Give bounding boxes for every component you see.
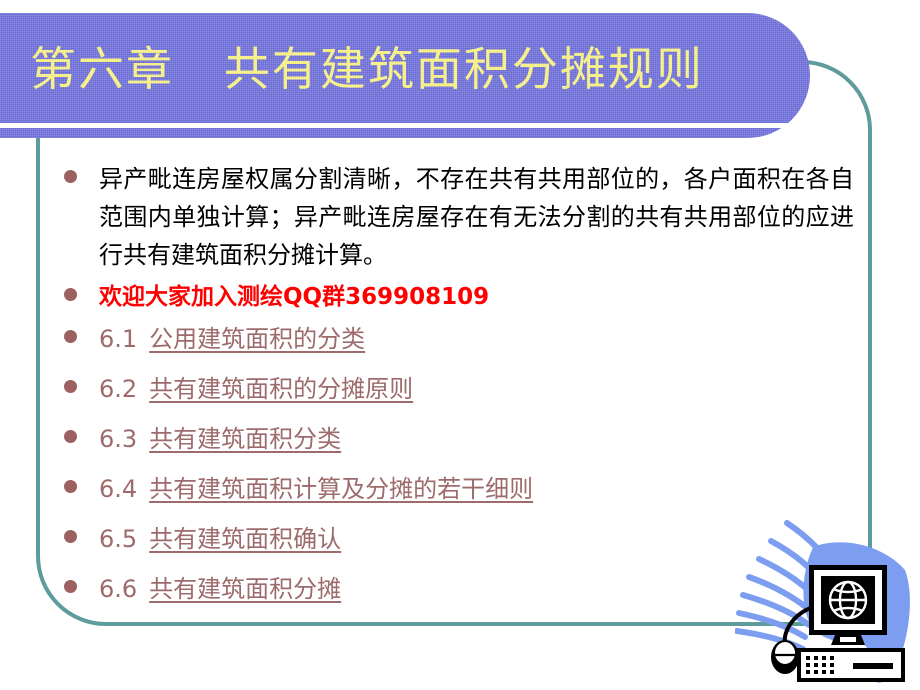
bullet-promo: 欢迎大家加入测绘QQ群369908109 [64,278,854,316]
bullet-dot-icon [64,288,77,301]
bullet-dot-icon [64,330,77,343]
toc-number: 6.6 [99,575,137,603]
bullet-dot-icon [64,380,77,393]
title-banner: 第六章 共有建筑面积分摊规则 [0,13,810,138]
monitor-neck-highlight [840,637,856,642]
toc-link[interactable]: 共有建筑面积的分摊原则 [149,375,413,403]
promo-text: 欢迎大家加入测绘QQ群369908109 [99,278,854,316]
bullet-dot-icon [64,430,77,443]
toc-link[interactable]: 共有建筑面积分类 [149,425,341,453]
toc-link[interactable]: 公用建筑面积的分类 [149,325,365,353]
toc-link[interactable]: 共有建筑面积计算及分摊的若干细则 [149,475,533,503]
bullet-paragraph: 异产毗连房屋权属分割清晰，不存在共有共用部位的，各户面积在各自范围内单独计算；异… [64,160,854,274]
toc-number: 6.2 [99,375,137,403]
toc-link[interactable]: 共有建筑面积分摊 [149,575,341,603]
bullet-dot-icon [64,530,77,543]
page-title: 第六章 共有建筑面积分摊规则 [30,33,770,105]
toc-item-6-2[interactable]: 6.2共有建筑面积的分摊原则 [64,370,854,408]
toc-number: 6.4 [99,475,137,503]
bullet-dot-icon [64,170,77,183]
banner-divider-line [0,123,790,128]
frame-top-mask [0,0,920,13]
slide: 第六章 共有建筑面积分摊规则 异产毗连房屋权属分割清晰，不存在共有共用部位的，各… [0,0,920,690]
bullet-dot-icon [64,580,77,593]
mouse-top [775,642,795,664]
toc-item-6-1[interactable]: 6.1公用建筑面积的分类 [64,320,854,358]
paragraph-text: 异产毗连房屋权属分割清晰，不存在共有共用部位的，各户面积在各自范围内单独计算；异… [99,160,854,274]
computer-globe-clipart [735,495,920,690]
bullet-dot-icon [64,480,77,493]
toc-number: 6.1 [99,325,137,353]
toc-number: 6.3 [99,425,137,453]
toc-number: 6.5 [99,525,137,553]
toc-item-6-3[interactable]: 6.3共有建筑面积分类 [64,420,854,458]
toc-link[interactable]: 共有建筑面积确认 [149,525,341,553]
